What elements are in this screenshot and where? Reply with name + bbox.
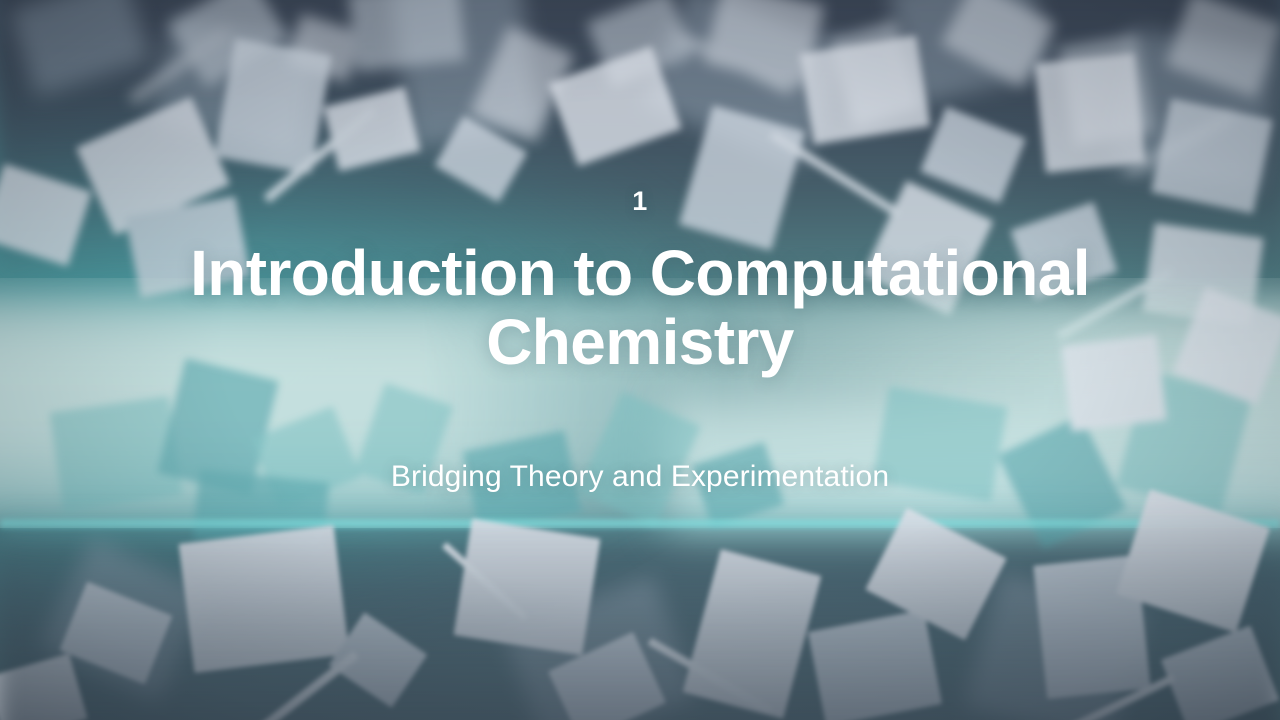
slide-number: 1 [632, 188, 648, 215]
slide-title: Introduction to Computational Chemistry [190, 239, 1090, 377]
slide-content: 1 Introduction to Computational Chemistr… [0, 0, 1280, 720]
slide-subtitle: Bridging Theory and Experimentation [160, 458, 1120, 496]
title-slide: 1 Introduction to Computational Chemistr… [0, 0, 1280, 720]
